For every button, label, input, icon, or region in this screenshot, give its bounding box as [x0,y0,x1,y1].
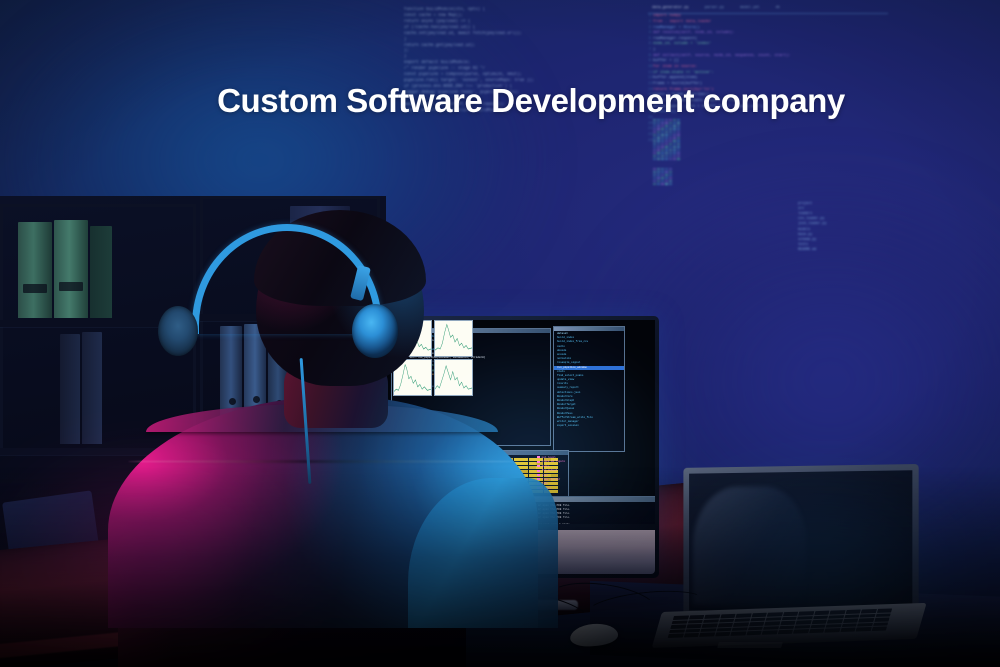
headphone-earcup-left [158,306,198,356]
floor-shadow [0,467,1000,667]
binder-teal [18,222,52,318]
binder-teal [54,220,88,318]
page-title: Custom Software Development company [0,82,1000,120]
scene-stage: function buildModule(ctx, opts) { const … [0,0,1000,667]
